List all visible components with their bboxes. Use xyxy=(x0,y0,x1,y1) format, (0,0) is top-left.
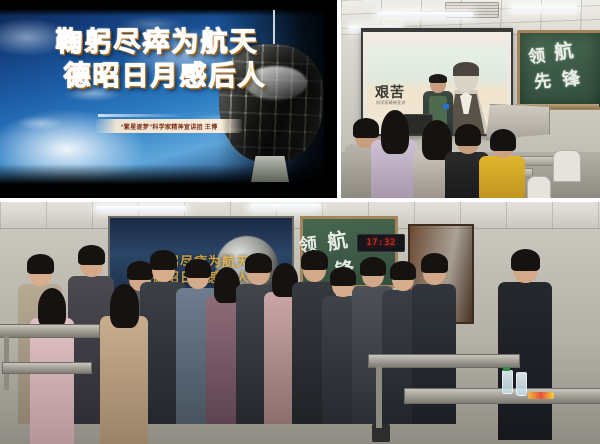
slide-title: 鞠躬尽瘁为航天 德昭日月感后人 xyxy=(22,28,292,90)
person-body xyxy=(100,316,148,444)
ceiling-light-2 xyxy=(511,6,577,11)
blackboard-char-1: 领 xyxy=(527,41,547,68)
blackboard-char-2: 航 xyxy=(552,36,575,66)
projected-slide-subtitle: 科学家精神宣讲 xyxy=(376,100,405,106)
water-bottle-2 xyxy=(516,372,527,396)
person-body xyxy=(479,156,525,198)
person-hair xyxy=(150,250,177,270)
speaker-badge xyxy=(443,104,449,109)
portrait-hair xyxy=(453,62,479,76)
chair-2 xyxy=(527,176,551,198)
ceiling-light-1 xyxy=(96,206,186,211)
ceiling-light-2 xyxy=(250,204,320,209)
slide-title-line1: 鞠躬尽瘁为航天 xyxy=(22,28,292,57)
blackboard: 领 航 先 锋 xyxy=(517,30,600,110)
audience-person-5 xyxy=(479,130,525,198)
water-bottle-cap-1 xyxy=(503,367,510,371)
ceiling-light-1 xyxy=(377,12,473,17)
projected-slide-title: 艰苦 xyxy=(375,82,405,102)
digital-wall-clock[interactable]: 17:32 xyxy=(357,234,405,252)
presentation-slide-photo: 鞠躬尽瘁为航天 德昭日月感后人 “繁星逐梦”科学家精神宣讲团 王博 xyxy=(0,0,337,198)
slide-subtitle-rule xyxy=(98,114,186,117)
audience-person-2 xyxy=(371,112,417,198)
photo-collage: 鞠躬尽瘁为航天 德昭日月感后人 “繁星逐梦”科学家精神宣讲团 王博 艰苦 科学家… xyxy=(0,0,600,444)
slide-title-line2: 德昭日月感后人 xyxy=(38,62,292,91)
clock-time: 17:32 xyxy=(366,238,396,248)
desk-left xyxy=(0,324,100,338)
group-person-14 xyxy=(498,250,552,440)
person-hair xyxy=(421,253,448,273)
desk-left-lower xyxy=(2,362,92,374)
person-hair xyxy=(455,124,481,146)
slide-inner: 鞠躬尽瘁为航天 德昭日月感后人 “繁星逐梦”科学家精神宣讲团 王博 xyxy=(0,0,337,198)
satellite-skirt xyxy=(251,156,289,182)
slide-subtitle-text: “繁星逐梦”科学家精神宣讲团 王博 xyxy=(121,122,218,131)
classroom-lecture-photo: 艰苦 科学家精神宣讲 领 xyxy=(341,0,600,198)
snack-item xyxy=(528,392,554,399)
desk-right-leg xyxy=(376,366,382,428)
person-hair xyxy=(78,245,105,265)
person-hair-long xyxy=(381,110,409,154)
person-hair xyxy=(301,250,328,270)
chair-1 xyxy=(553,150,581,182)
water-bottle-1 xyxy=(502,370,513,394)
blackboard-writing: 领 航 先 锋 xyxy=(520,33,600,107)
group-person-16 xyxy=(100,284,148,444)
person-hair xyxy=(490,129,516,151)
person-hair-long xyxy=(110,284,139,328)
slide-subtitle-plate: “繁星逐梦”科学家精神宣讲团 王博 xyxy=(96,119,242,133)
person-hair-long xyxy=(38,288,66,328)
speaker-hair xyxy=(429,74,447,83)
blackboard-char-4: 锋 xyxy=(560,64,581,92)
desk-right xyxy=(368,354,520,368)
blackboard-char-2: 航 xyxy=(325,223,350,255)
group-photo-with-banner: 鞠躬尽瘁为航天 德昭日月感后人 领 航 先 锋 xyxy=(0,202,600,444)
person-hair xyxy=(27,254,54,274)
blackboard-char-3: 先 xyxy=(533,66,552,92)
person-hair xyxy=(511,249,540,271)
